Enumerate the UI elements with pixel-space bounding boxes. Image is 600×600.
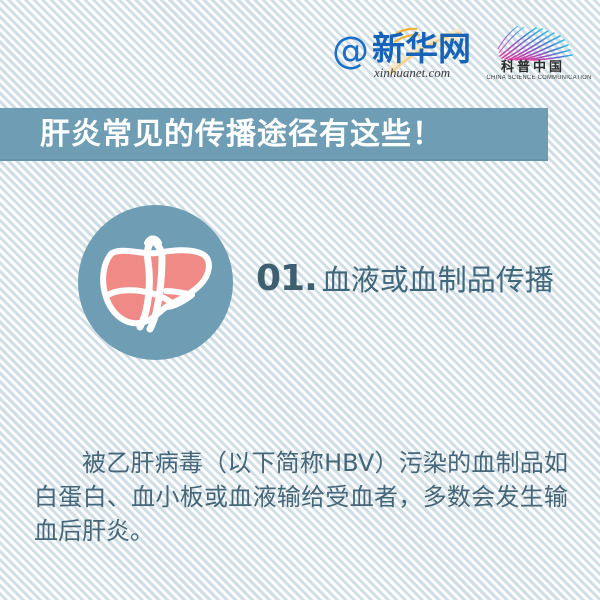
body-paragraph: 被乙肝病毒（以下简称HBV）污染的血制品如白蛋白、血小板或血液输给受血者，多数会…	[34, 446, 568, 548]
xinhuanet-domain: xinhuanet.com	[374, 66, 450, 80]
liver-icon	[92, 231, 220, 335]
kepu-name-cn: 科普中国	[486, 61, 580, 75]
section-row-01: 01 . 血液或血制品传播	[0, 200, 600, 370]
xinhuanet-name: 新华网	[372, 32, 471, 66]
kepu-name-en: CHINA SCIENCE COMMUNICATION	[486, 75, 579, 82]
page-title: 肝炎常见的传播途径有这些！	[40, 119, 443, 151]
section-number-dot: .	[304, 260, 318, 298]
xinhuanet-logo[interactable]: @ 新华网 xinhuanet.com	[332, 26, 460, 82]
section-label: 血液或血制品传播	[322, 264, 554, 296]
section-heading: 01 . 血液或血制品传播	[256, 260, 554, 308]
fan-wing-icon	[490, 20, 576, 62]
liver-icon-badge	[78, 205, 233, 360]
section-number: 01	[256, 260, 304, 298]
header-logo-bar: @ 新华网 xinhuanet.com	[0, 12, 600, 90]
infographic-poster: @ 新华网 xinhuanet.com	[0, 0, 600, 600]
kepu-china-logo[interactable]: 科普中国 CHINA SCIENCE COMMUNICATION	[484, 20, 582, 86]
at-icon: @	[332, 32, 369, 69]
title-band: 肝炎常见的传播途径有这些！	[0, 108, 548, 161]
